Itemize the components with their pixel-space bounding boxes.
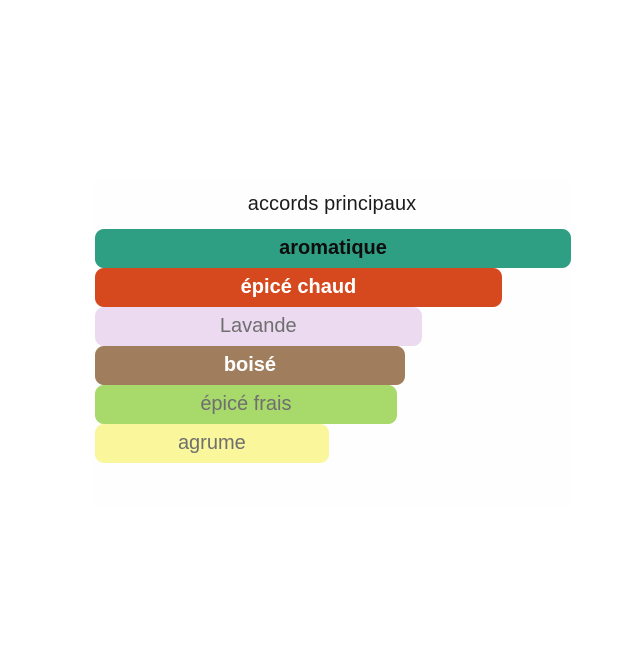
page-root: accords principaux aromatique épicé chau… <box>0 0 640 646</box>
bar-row: aromatique <box>95 229 571 268</box>
bar-aromatique[interactable] <box>95 229 571 268</box>
bar-row: épicé frais <box>95 385 571 424</box>
bar-row: épicé chaud <box>95 268 571 307</box>
bar-row: boisé <box>95 346 571 385</box>
bar-row: Lavande <box>95 307 571 346</box>
bar-boise[interactable] <box>95 346 405 385</box>
bar-chart-plot-area: aromatique épicé chaud Lavande boisé épi… <box>95 229 571 463</box>
bar-epice-frais[interactable] <box>95 385 397 424</box>
chart-title: accords principaux <box>93 191 571 217</box>
bar-epice-chaud[interactable] <box>95 268 502 307</box>
chart-panel: accords principaux aromatique épicé chau… <box>93 180 571 507</box>
bar-row: agrume <box>95 424 571 463</box>
bar-agrume[interactable] <box>95 424 329 463</box>
bar-lavande[interactable] <box>95 307 422 346</box>
